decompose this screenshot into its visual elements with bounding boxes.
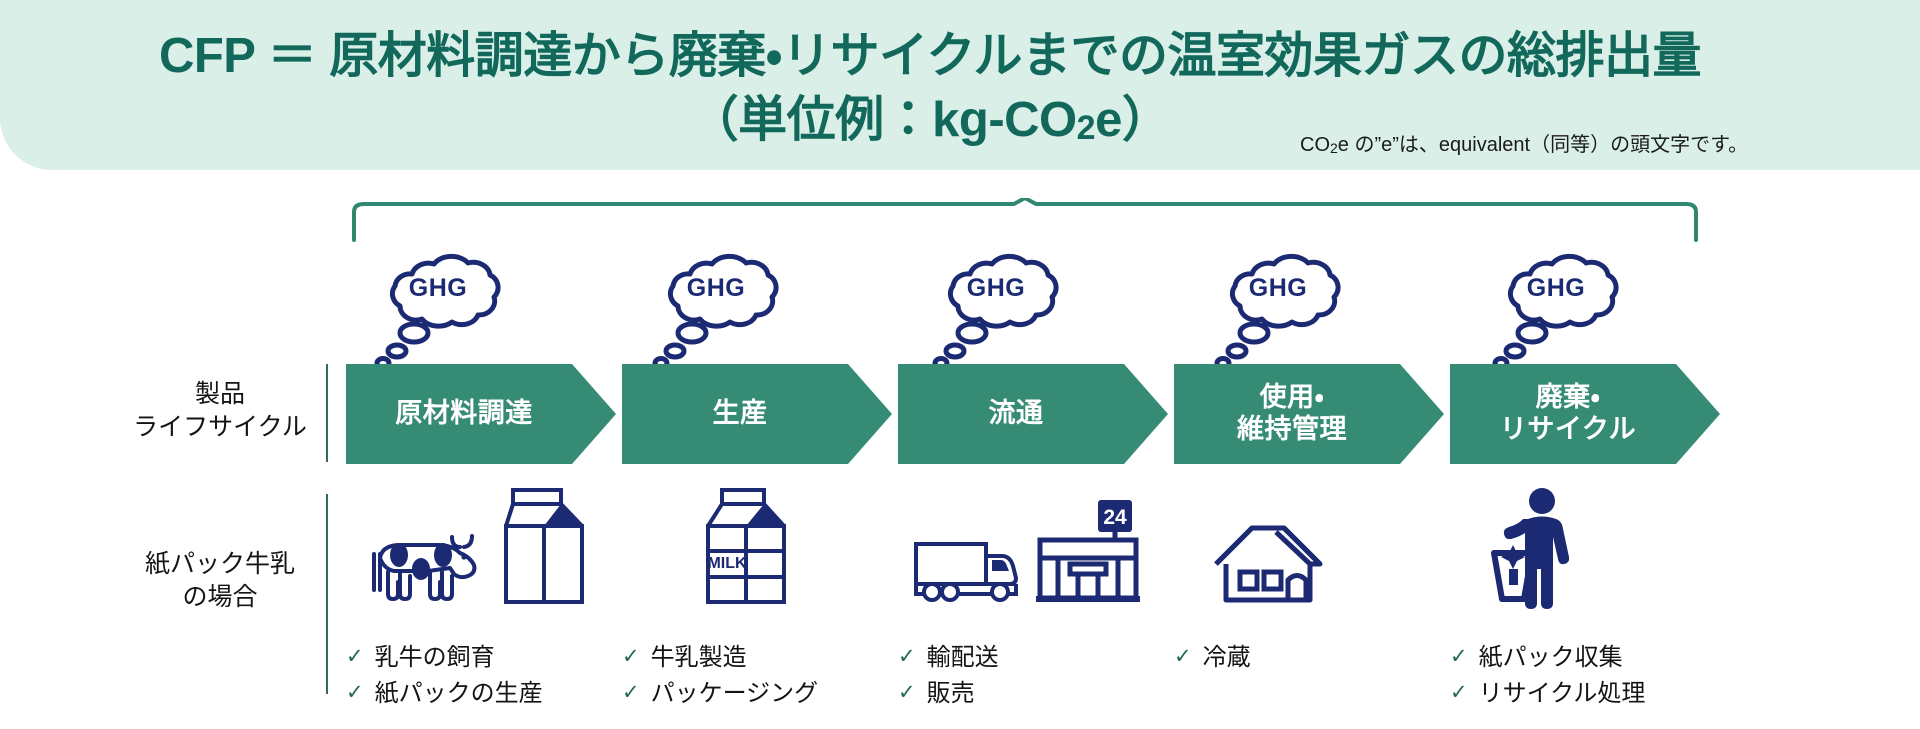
list-item: ✓ 紙パック収集 bbox=[1450, 640, 1645, 676]
checklist-disposal: ✓ 紙パック収集 ✓ リサイクル処理 bbox=[1450, 640, 1645, 713]
list-item-label: 牛乳製造 bbox=[651, 640, 747, 676]
icons-use bbox=[1212, 486, 1324, 611]
stage-production[interactable]: 生産 bbox=[622, 364, 892, 464]
icons-disposal bbox=[1474, 486, 1578, 611]
ghg-cloud-use: GHG bbox=[1212, 248, 1362, 373]
lifecycle-stage-row: 原材料調達 生産 流通 使用・ 維持管理 廃棄・ リサイクル bbox=[0, 364, 1920, 470]
svg-text:MILK: MILK bbox=[707, 555, 747, 572]
list-item-label: リサイクル処理 bbox=[1479, 676, 1646, 712]
checklist-use: ✓ 冷蔵 bbox=[1174, 640, 1251, 676]
unit-example-prefix: （単位例：kg-CO bbox=[690, 93, 1077, 147]
unit-example-suffix: e） bbox=[1095, 93, 1170, 147]
milk-carton-labeled-icon: MILK bbox=[700, 486, 792, 611]
list-item: ✓ リサイクル処理 bbox=[1450, 676, 1645, 712]
check-icon: ✓ bbox=[898, 676, 916, 710]
list-item-label: 輸配送 bbox=[927, 640, 999, 676]
list-item: ✓ 紙パックの生産 bbox=[346, 676, 543, 712]
stage-raw-material-procurement[interactable]: 原材料調達 bbox=[346, 364, 616, 464]
ghg-cloud-production: GHG bbox=[650, 248, 800, 373]
check-icon: ✓ bbox=[1450, 676, 1468, 710]
list-item: ✓ 販売 bbox=[898, 676, 999, 712]
stage-label: 廃棄・ リサイクル bbox=[1450, 382, 1720, 446]
lifecycle-span-bracket bbox=[350, 198, 1700, 242]
check-icon: ✓ bbox=[898, 640, 916, 674]
check-icon: ✓ bbox=[622, 640, 640, 674]
list-item-label: パッケージング bbox=[651, 676, 819, 712]
check-icon: ✓ bbox=[622, 676, 640, 710]
co2-subscript: 2 bbox=[1077, 109, 1095, 147]
check-icon: ✓ bbox=[346, 640, 364, 674]
footnote-subscript: 2 bbox=[1330, 140, 1338, 156]
ghg-cloud-procurement: GHG bbox=[372, 248, 522, 373]
list-item-label: 冷蔵 bbox=[1203, 640, 1251, 676]
footnote-prefix: CO bbox=[1300, 134, 1330, 156]
ghg-cloud-distribution: GHG bbox=[930, 248, 1080, 373]
stage-label: 使用・ 維持管理 bbox=[1174, 382, 1444, 446]
example-icon-row: MILK 24 bbox=[0, 486, 1920, 611]
icons-distribution: 24 bbox=[912, 486, 1140, 611]
list-item-label: 乳牛の飼育 bbox=[375, 640, 495, 676]
header-banner: CFP ＝ 原材料調達から廃棄・リサイクルまでの温室効果ガスの総排出量 （単位例… bbox=[0, 0, 1920, 170]
list-item: ✓ 乳牛の飼育 bbox=[346, 640, 543, 676]
list-item: ✓ 冷蔵 bbox=[1174, 640, 1251, 676]
checklist-production: ✓ 牛乳製造 ✓ パッケージング bbox=[622, 640, 818, 713]
stage-label: 生産 bbox=[622, 398, 892, 430]
list-item: ✓ 牛乳製造 bbox=[622, 640, 818, 676]
checklist-distribution: ✓ 輸配送 ✓ 販売 bbox=[898, 640, 999, 713]
diagram-canvas: CFP ＝ 原材料調達から廃棄・リサイクルまでの温室効果ガスの総排出量 （単位例… bbox=[0, 0, 1920, 729]
stage-label: 原材料調達 bbox=[346, 398, 616, 430]
stage-label: 流通 bbox=[898, 398, 1168, 430]
icons-production: MILK bbox=[700, 486, 792, 611]
list-item-label: 販売 bbox=[927, 676, 975, 712]
stage-disposal-recycling[interactable]: 廃棄・ リサイクル bbox=[1450, 364, 1720, 464]
list-item-label: 紙パック収集 bbox=[1479, 640, 1623, 676]
check-icon: ✓ bbox=[1174, 640, 1192, 674]
house-icon bbox=[1212, 522, 1324, 611]
check-icon: ✓ bbox=[1450, 640, 1468, 674]
milk-carton-icon bbox=[498, 486, 590, 611]
store-sign-label: 24 bbox=[1103, 506, 1127, 529]
example-checklist-row: ✓ 乳牛の飼育 ✓ 紙パックの生産 ✓ 牛乳製造 ✓ パッケージング ✓ 輸配送 bbox=[0, 640, 1920, 720]
footnote-text: CO2e の”e”は、equivalent（同等）の頭文字です。 bbox=[1300, 128, 1748, 157]
footnote-suffix: e の”e”は、equivalent（同等）の頭文字です。 bbox=[1338, 134, 1748, 156]
stage-use-maintenance[interactable]: 使用・ 維持管理 bbox=[1174, 364, 1444, 464]
cow-icon bbox=[366, 524, 484, 611]
convenience-store-icon: 24 bbox=[1036, 496, 1140, 611]
list-item-label: 紙パックの生産 bbox=[375, 676, 543, 712]
page-title-line-1: CFP ＝ 原材料調達から廃棄・リサイクルまでの温室効果ガスの総排出量 bbox=[0, 16, 1860, 87]
icons-procurement bbox=[366, 486, 590, 611]
checklist-procurement: ✓ 乳牛の飼育 ✓ 紙パックの生産 bbox=[346, 640, 543, 713]
check-icon: ✓ bbox=[346, 676, 364, 710]
list-item: ✓ 輸配送 bbox=[898, 640, 999, 676]
ghg-cloud-disposal: GHG bbox=[1490, 248, 1640, 373]
list-item: ✓ パッケージング bbox=[622, 676, 818, 712]
truck-icon bbox=[912, 526, 1022, 611]
stage-distribution[interactable]: 流通 bbox=[898, 364, 1168, 464]
